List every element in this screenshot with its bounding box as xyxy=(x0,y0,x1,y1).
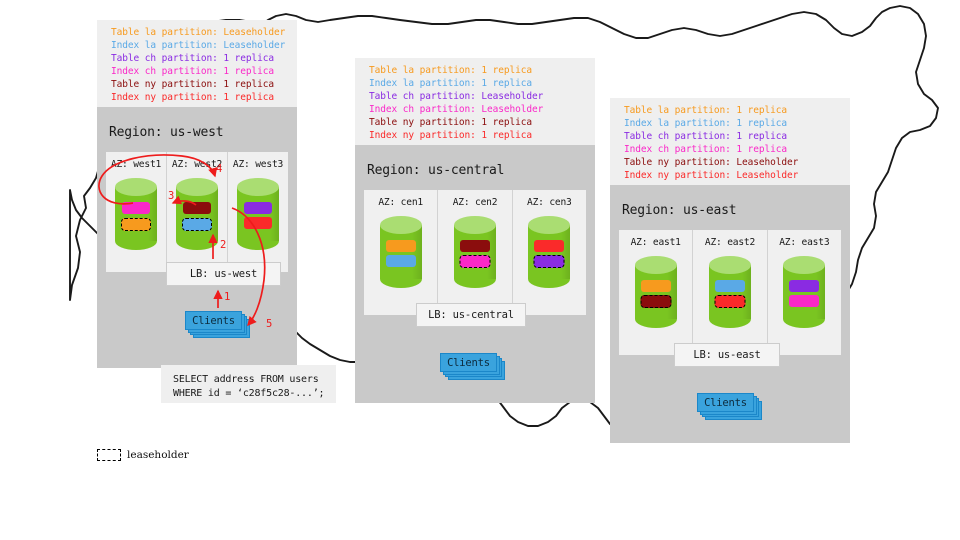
cylinder-shade xyxy=(270,187,279,241)
cylinder-top xyxy=(454,216,496,234)
cylinder-shade xyxy=(816,265,825,319)
load-balancer-us-west[interactable]: LB: us-west xyxy=(166,262,281,286)
legend-line: Table ny partition: Leaseholder xyxy=(624,156,840,169)
legend-line: Table la partition: Leaseholder xyxy=(111,26,287,39)
az-strip-us-west: AZ: west1 AZ: west2 xyxy=(106,152,288,272)
partition-chip[interactable] xyxy=(789,295,819,307)
legend-line: Index la partition: Leaseholder xyxy=(111,39,287,52)
az-label: AZ: west3 xyxy=(228,159,288,170)
az-label: AZ: east2 xyxy=(693,237,766,248)
partition-chip-leaseholder[interactable] xyxy=(534,255,565,268)
legend-panel-us-central: Table la partition: 1 replica Index la p… xyxy=(355,58,595,145)
cylinder-shade xyxy=(561,225,570,279)
cylinder-shade xyxy=(209,187,218,241)
clients-stack-us-central[interactable]: Clients xyxy=(440,353,508,381)
flow-number-1: 1 xyxy=(224,291,230,303)
legend-line: Table ny partition: 1 replica xyxy=(111,78,287,91)
region-title: Region: us-east xyxy=(622,203,736,218)
legend-line: Index ny partition: 1 replica xyxy=(111,91,287,104)
cylinder-shade xyxy=(148,187,157,241)
legend-line: Table ch partition: 1 replica xyxy=(624,130,840,143)
legend-line: Table ch partition: Leaseholder xyxy=(369,90,585,103)
flow-number-5: 5 xyxy=(266,318,272,330)
az-label: AZ: east1 xyxy=(619,237,692,248)
sql-line-2: WHERE id = ‘c28f5c28-...’; xyxy=(173,387,324,401)
flow-number-2: 2 xyxy=(220,239,226,251)
partition-chip[interactable] xyxy=(460,240,490,252)
leaseholder-key-legend: leaseholder xyxy=(97,449,189,461)
partition-chip-leaseholder[interactable] xyxy=(459,255,490,268)
legend-line: Index ch partition: 1 replica xyxy=(624,143,840,156)
clients-stack-us-west[interactable]: Clients xyxy=(185,311,253,339)
clients-label[interactable]: Clients xyxy=(440,353,497,372)
az-strip-us-east: AZ: east1 AZ: east2 xyxy=(619,230,841,355)
load-balancer-us-east[interactable]: LB: us-east xyxy=(674,343,780,367)
node-cylinder[interactable] xyxy=(528,216,570,288)
partition-chip[interactable] xyxy=(386,240,416,252)
node-cylinder[interactable] xyxy=(380,216,422,288)
legend-line: Index ny partition: Leaseholder xyxy=(624,169,840,182)
node-cylinder[interactable] xyxy=(783,256,825,328)
partition-chip[interactable] xyxy=(244,202,272,214)
partition-chip[interactable] xyxy=(386,255,416,267)
partition-chip-leaseholder[interactable] xyxy=(121,218,151,231)
clients-label[interactable]: Clients xyxy=(185,311,242,330)
az-label: AZ: cen1 xyxy=(364,197,437,208)
partition-chip[interactable] xyxy=(122,202,150,214)
legend-line: Index la partition: 1 replica xyxy=(369,77,585,90)
clients-stack-us-east[interactable]: Clients xyxy=(697,393,765,421)
leaseholder-key-label: leaseholder xyxy=(127,449,189,461)
cylinder-top xyxy=(176,178,218,196)
node-cylinder[interactable] xyxy=(709,256,751,328)
cylinder-top xyxy=(237,178,279,196)
legend-panel-us-east: Table la partition: 1 replica Index la p… xyxy=(610,98,850,185)
cylinder-top xyxy=(783,256,825,274)
cylinder-shade xyxy=(742,265,751,319)
flow-number-4: 4 xyxy=(216,163,222,175)
az-label: AZ: east3 xyxy=(768,237,841,248)
legend-line: Table la partition: 1 replica xyxy=(369,64,585,77)
legend-line: Index ch partition: Leaseholder xyxy=(369,103,585,116)
partition-chip[interactable] xyxy=(789,280,819,292)
node-cylinder[interactable] xyxy=(635,256,677,328)
leaseholder-swatch-icon xyxy=(97,449,121,461)
az-cen1[interactable]: AZ: cen1 xyxy=(364,190,437,315)
cylinder-top xyxy=(635,256,677,274)
cylinder-top xyxy=(709,256,751,274)
partition-chip[interactable] xyxy=(715,280,745,292)
legend-panel-us-west: Table la partition: Leaseholder Index la… xyxy=(97,20,297,107)
az-east2[interactable]: AZ: east2 xyxy=(692,230,766,355)
az-label: AZ: cen3 xyxy=(513,197,586,208)
az-west1[interactable]: AZ: west1 xyxy=(106,152,166,272)
flow-number-3: 3 xyxy=(168,190,174,202)
cylinder-top xyxy=(380,216,422,234)
partition-chip[interactable] xyxy=(641,280,671,292)
node-cylinder[interactable] xyxy=(237,178,279,250)
az-west3[interactable]: AZ: west3 xyxy=(227,152,288,272)
az-strip-us-central: AZ: cen1 AZ: cen2 xyxy=(364,190,586,315)
legend-line: Table ny partition: 1 replica xyxy=(369,116,585,129)
az-east1[interactable]: AZ: east1 xyxy=(619,230,692,355)
legend-line: Table ch partition: 1 replica xyxy=(111,52,287,65)
node-cylinder[interactable] xyxy=(454,216,496,288)
cylinder-top xyxy=(528,216,570,234)
partition-chip[interactable] xyxy=(244,217,272,229)
az-cen3[interactable]: AZ: cen3 xyxy=(512,190,586,315)
sql-query-box: SELECT address FROM users WHERE id = ‘c2… xyxy=(161,365,336,403)
cylinder-top xyxy=(115,178,157,196)
legend-line: Index la partition: 1 replica xyxy=(624,117,840,130)
cylinder-shade xyxy=(412,225,421,279)
load-balancer-us-central[interactable]: LB: us-central xyxy=(416,303,526,327)
partition-chip-leaseholder[interactable] xyxy=(714,295,745,308)
diagram-canvas: Table la partition: Leaseholder Index la… xyxy=(0,0,960,540)
partition-chip-leaseholder[interactable] xyxy=(182,218,212,231)
az-label: AZ: cen2 xyxy=(438,197,511,208)
legend-line: Index ny partition: 1 replica xyxy=(369,129,585,142)
region-title: Region: us-central xyxy=(367,163,504,178)
az-cen2[interactable]: AZ: cen2 xyxy=(437,190,511,315)
node-cylinder[interactable] xyxy=(115,178,157,250)
node-cylinder[interactable] xyxy=(176,178,218,250)
az-label: AZ: west1 xyxy=(106,159,166,170)
partition-chip[interactable] xyxy=(183,202,211,214)
clients-label[interactable]: Clients xyxy=(697,393,754,412)
partition-chip[interactable] xyxy=(534,240,564,252)
cylinder-shade xyxy=(667,265,676,319)
region-title: Region: us-west xyxy=(109,125,223,140)
cylinder-shade xyxy=(487,225,496,279)
sql-line-1: SELECT address FROM users xyxy=(173,373,324,387)
legend-line: Table la partition: 1 replica xyxy=(624,104,840,117)
az-east3[interactable]: AZ: east3 xyxy=(767,230,841,355)
legend-line: Index ch partition: 1 replica xyxy=(111,65,287,78)
partition-chip-leaseholder[interactable] xyxy=(640,295,671,308)
